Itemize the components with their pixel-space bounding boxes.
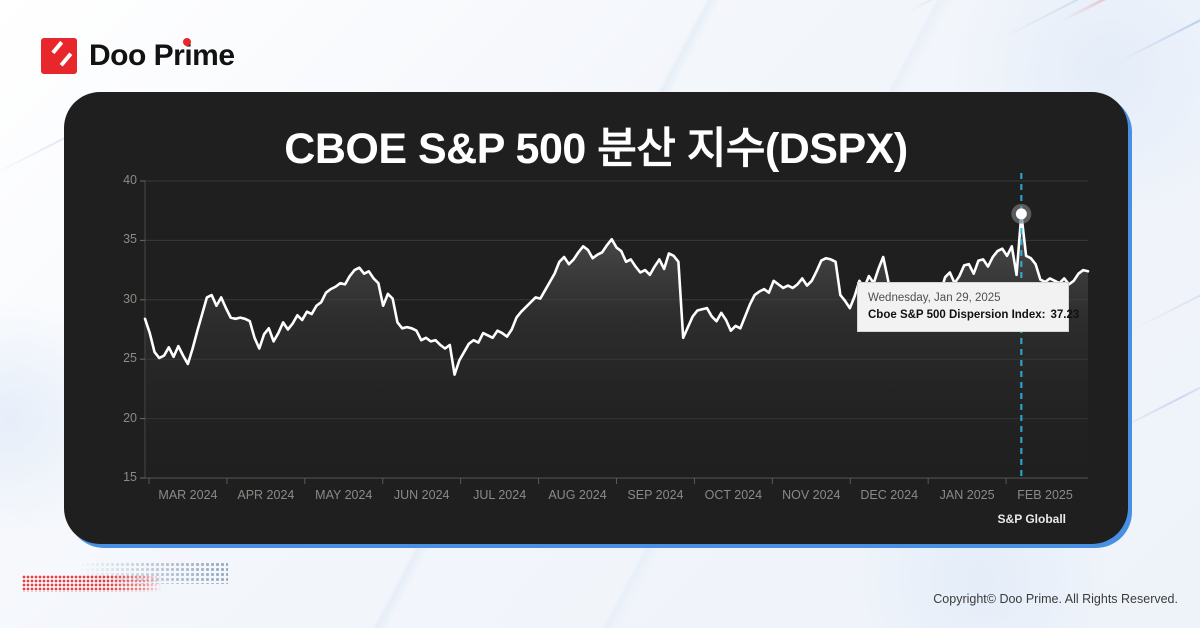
x-axis-tick-label: FEB 2025 xyxy=(990,488,1100,502)
background-streak xyxy=(905,0,1040,14)
footer-dot-decoration xyxy=(22,562,227,594)
y-axis-tick-label: 40 xyxy=(97,173,137,187)
tooltip-series-label: Cboe S&P 500 Dispersion Index: xyxy=(868,309,1045,321)
background-streak xyxy=(1120,0,1200,62)
chart-source-attribution: S&P Globall xyxy=(998,512,1066,526)
brand-logo: Doo Prime xyxy=(41,38,239,74)
copyright-text: Copyright© Doo Prime. All Rights Reserve… xyxy=(933,592,1178,606)
brand-name: Doo Prime xyxy=(89,39,239,73)
tooltip-date: Wednesday, Jan 29, 2025 xyxy=(868,290,1059,307)
chart-area-fill xyxy=(145,214,1088,478)
highlight-marker-dot xyxy=(1016,208,1027,219)
y-axis-tick-label: 30 xyxy=(97,292,137,306)
y-axis-tick-label: 15 xyxy=(97,470,137,484)
chart-tooltip: Wednesday, Jan 29, 2025 Cboe S&P 500 Dis… xyxy=(857,282,1069,332)
tooltip-value: 37.23 xyxy=(1050,309,1079,321)
doo-prime-mark-icon xyxy=(41,38,77,74)
background-streak xyxy=(1060,0,1168,23)
y-axis-tick-label: 35 xyxy=(97,232,137,246)
chart-card: CBOE S&P 500 분산 지수(DSPX) 403530252015 MA… xyxy=(64,92,1128,544)
background-streak xyxy=(1000,0,1188,40)
y-axis-tick-label: 20 xyxy=(97,411,137,425)
footer-dots-red xyxy=(22,575,162,592)
tooltip-value-row: Cboe S&P 500 Dispersion Index:37.23 xyxy=(868,307,1059,324)
y-axis-tick-label: 25 xyxy=(97,351,137,365)
logo-accent-dot xyxy=(183,38,191,46)
background-streak xyxy=(1130,239,1200,332)
